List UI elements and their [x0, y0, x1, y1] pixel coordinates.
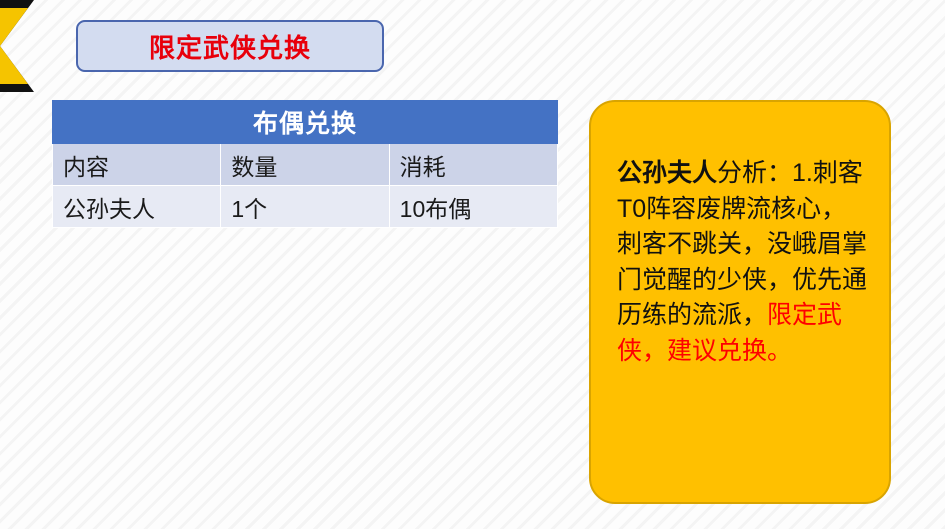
exchange-table-container: 布偶兑换 内容 数量 消耗 公孙夫人 1个 10布偶 [52, 100, 558, 228]
table-header-title: 布偶兑换 [53, 101, 558, 144]
column-header-content: 内容 [53, 144, 221, 186]
analysis-heading-suffix: 分析： [717, 159, 792, 187]
table-row: 公孙夫人 1个 10布偶 [53, 186, 558, 228]
analysis-hero-name: 公孙夫人 [617, 159, 717, 187]
table-column-header-row: 内容 数量 消耗 [53, 144, 558, 186]
slide-title-box: 限定武侠兑换 [76, 20, 384, 72]
cell-content: 公孙夫人 [53, 186, 221, 228]
analysis-text: 公孙夫人分析：1.刺客T0阵容废牌流核心，刺客不跳关，没峨眉掌门觉醒的少侠，优先… [617, 156, 867, 369]
analysis-card: 公孙夫人分析：1.刺客T0阵容废牌流核心，刺客不跳关，没峨眉掌门觉醒的少侠，优先… [589, 100, 891, 504]
exchange-table: 布偶兑换 内容 数量 消耗 公孙夫人 1个 10布偶 [52, 100, 558, 228]
column-header-quantity: 数量 [221, 144, 389, 186]
column-header-cost: 消耗 [389, 144, 557, 186]
table-header-row: 布偶兑换 [53, 101, 558, 144]
arrow-badge-icon [0, 0, 56, 92]
cell-cost: 10布偶 [389, 186, 557, 228]
slide-canvas: 限定武侠兑换 布偶兑换 内容 数量 消耗 公孙夫人 1个 10布偶 公孙夫人分析… [0, 0, 945, 529]
arrow-badge-yellow-shape [0, 8, 28, 84]
slide-title: 限定武侠兑换 [149, 28, 311, 65]
cell-quantity: 1个 [221, 186, 389, 228]
